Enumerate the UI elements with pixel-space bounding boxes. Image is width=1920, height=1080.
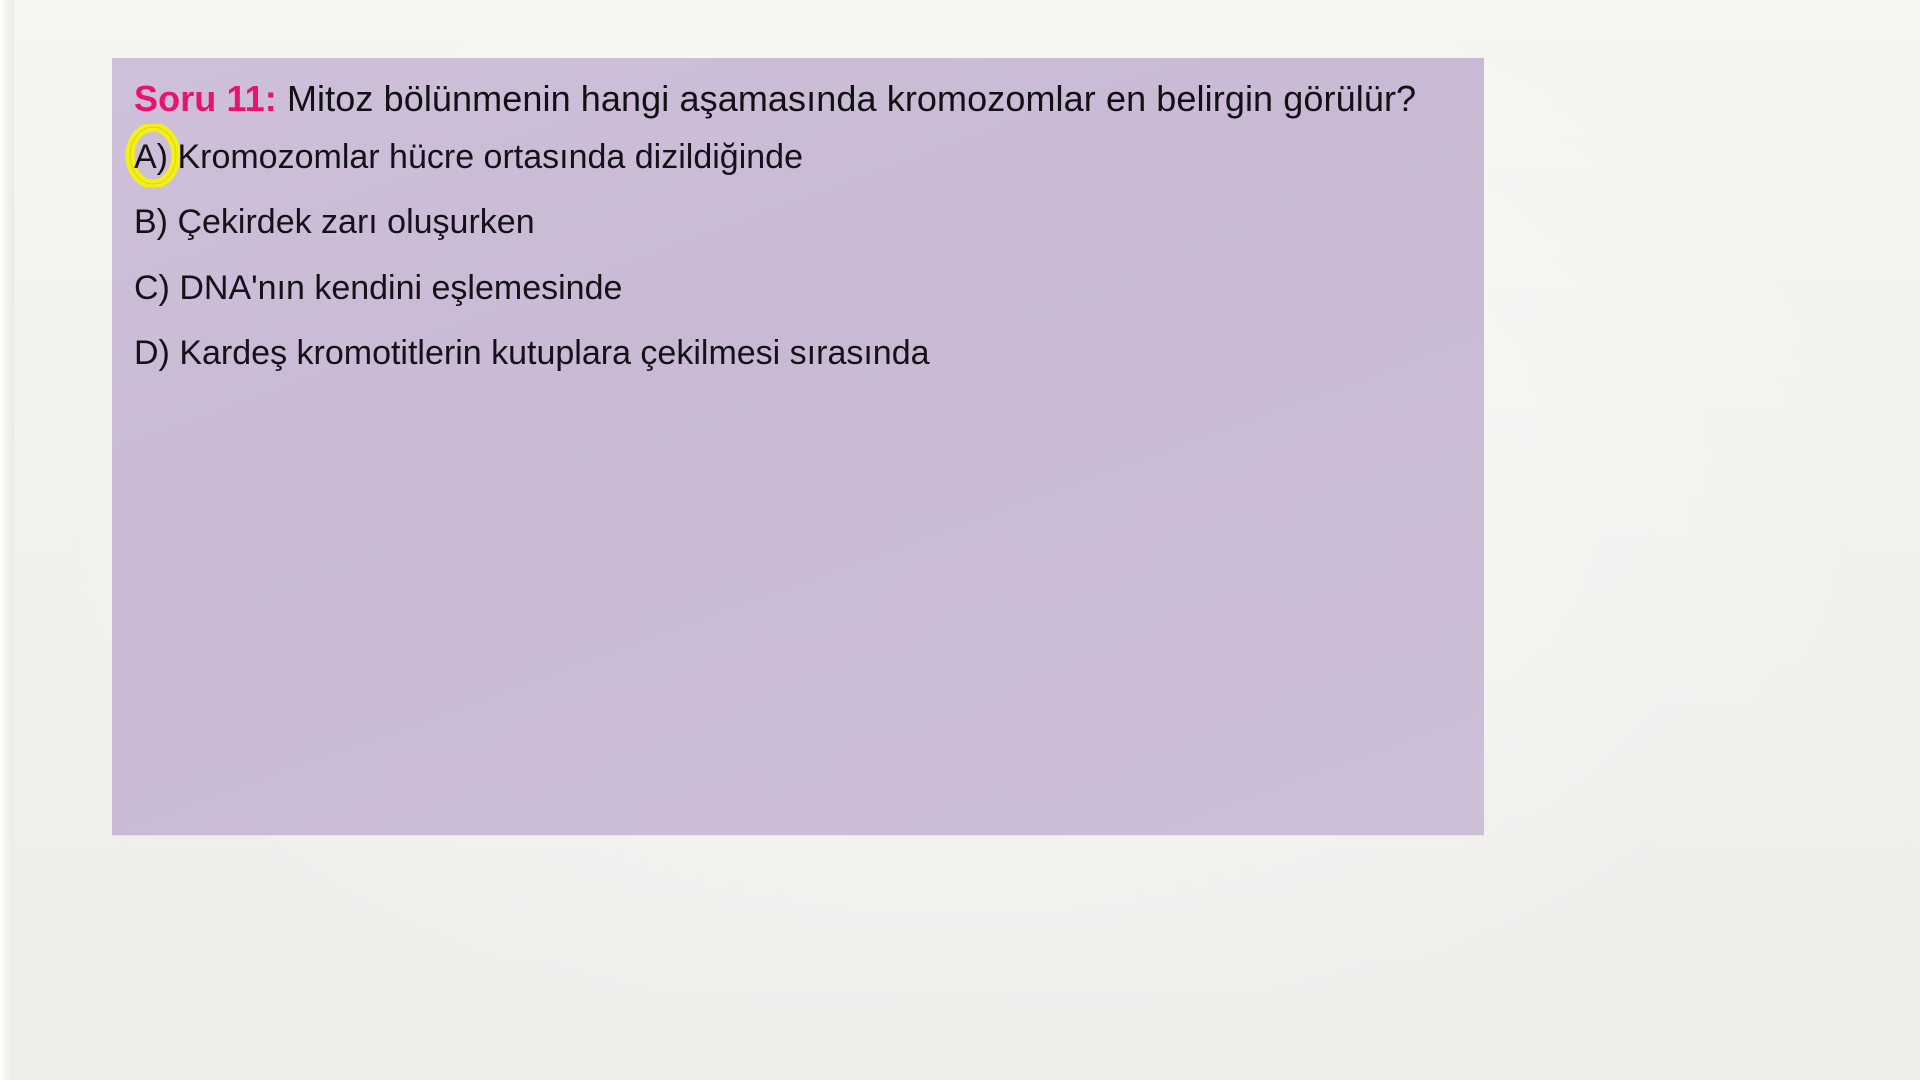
answer-option-a-letter: A)	[134, 137, 168, 178]
answer-option-a-text: Kromozomlar hücre ortasında dizildiğinde	[177, 137, 803, 178]
question-stem-text: Mitoz bölünmenin hangi aşamasında kromoz…	[277, 78, 1416, 119]
answer-option-d-text: Kardeş kromotitlerin kutuplara çekilmesi…	[179, 333, 929, 374]
answer-option-c-text: DNA'nın kendini eşlemesinde	[179, 268, 622, 309]
answer-option-b-letter: B)	[134, 202, 168, 243]
answer-option-c[interactable]: C) DNA'nın kendini eşlemesinde	[134, 268, 1458, 309]
question-number-label: Soru 11:	[134, 78, 277, 119]
question-card: Soru 11: Mitoz bölünmenin hangi aşamasın…	[112, 58, 1484, 835]
answer-option-d[interactable]: D) Kardeş kromotitlerin kutuplara çekilm…	[134, 333, 1458, 374]
answer-option-d-letter: D)	[134, 333, 170, 374]
question-card-content: Soru 11: Mitoz bölünmenin hangi aşamasın…	[134, 76, 1458, 399]
answer-option-a[interactable]: A) Kromozomlar hücre ortasında dizildiği…	[134, 137, 1458, 178]
question-stem: Soru 11: Mitoz bölünmenin hangi aşamasın…	[134, 76, 1458, 123]
page-left-edge	[0, 0, 14, 1080]
answer-option-b[interactable]: B) Çekirdek zarı oluşurken	[134, 202, 1458, 243]
answer-option-c-letter: C)	[134, 268, 170, 309]
answer-option-b-text: Çekirdek zarı oluşurken	[177, 202, 534, 243]
answer-options-list: A) Kromozomlar hücre ortasında dizildiği…	[134, 137, 1458, 375]
